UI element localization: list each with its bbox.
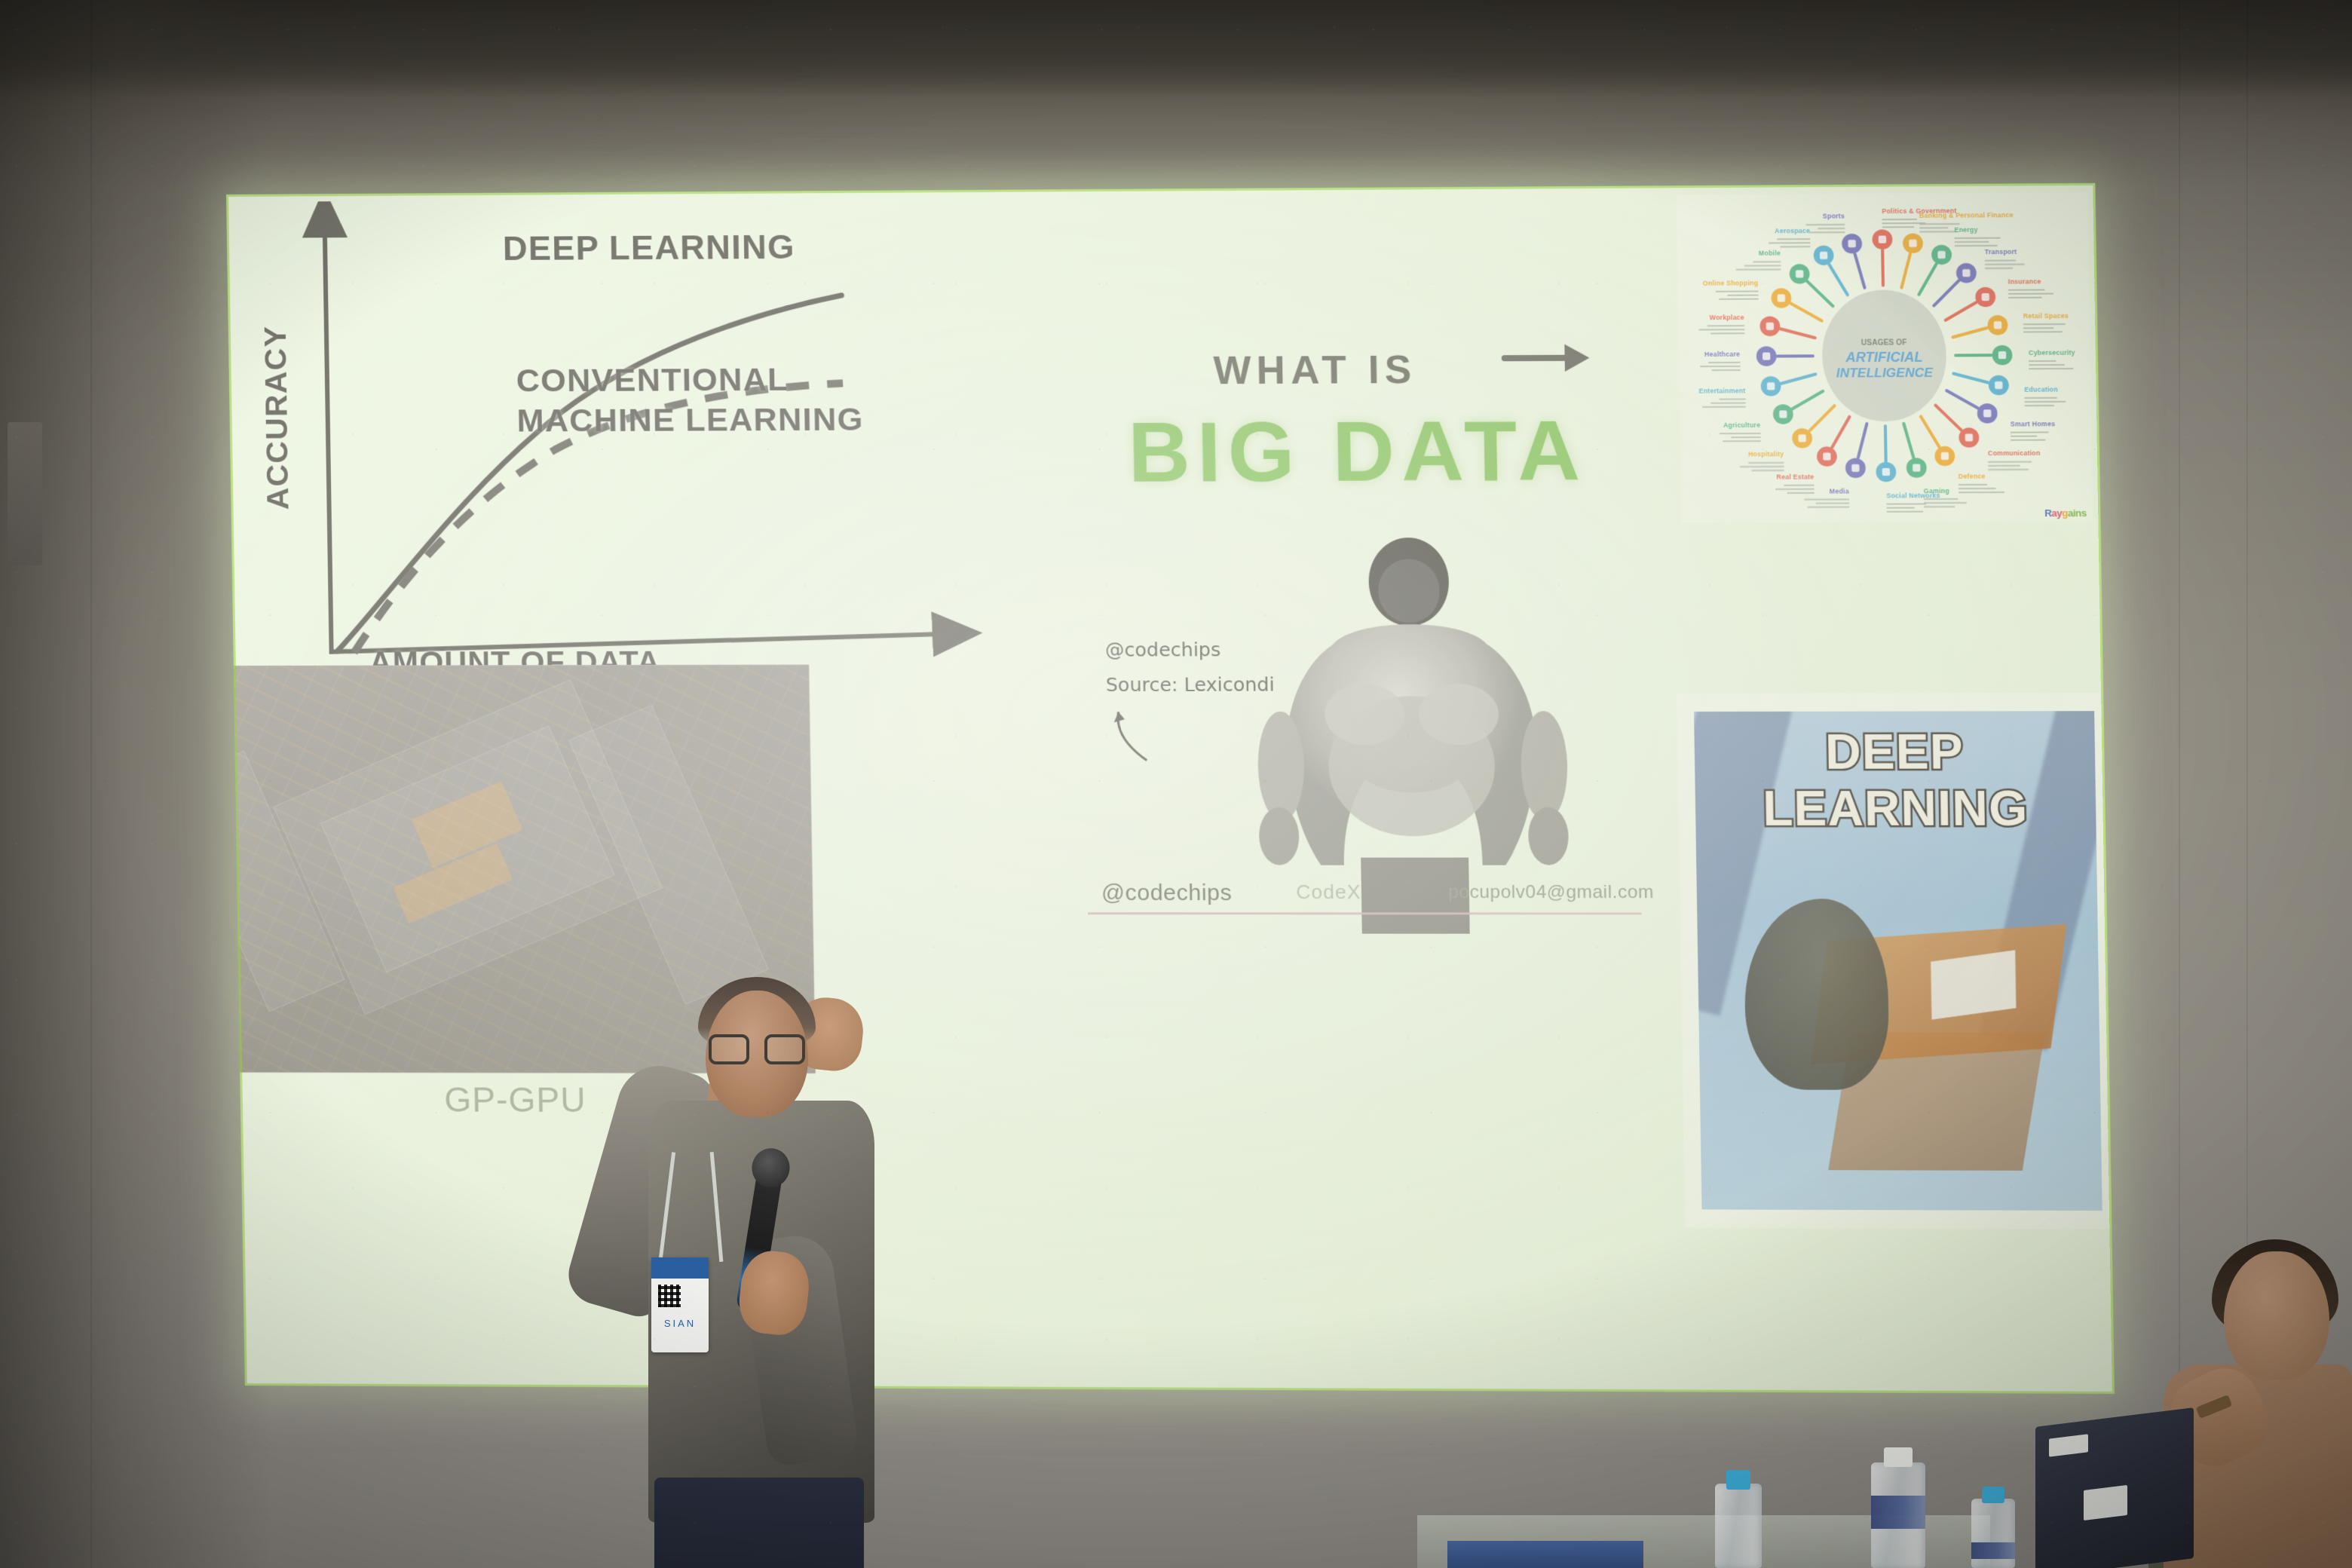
infographic-category-label: Workplace (1710, 314, 1744, 321)
infographic-spoke (1919, 264, 1937, 295)
meme-paper (1931, 950, 2016, 1019)
infographic-category-label: Retail Spaces (2023, 312, 2069, 320)
infographic-detail-line (1924, 506, 1955, 507)
presenter-trousers (654, 1478, 864, 1568)
big-data-section: WHAT IS BIG DATA @codechips Source: Lexi… (1079, 346, 1644, 1079)
infographic-detail-line (2029, 368, 2073, 369)
presenter: SIAN (528, 950, 950, 1568)
infographic-detail-line (1958, 492, 2004, 493)
water-bottle (1971, 1487, 2015, 1568)
infographic-detail-line (1958, 484, 1987, 485)
infographic-detail-line (1808, 507, 1850, 508)
muscular-figure-photo (1247, 537, 1576, 934)
infographic-detail-line (1707, 325, 1744, 326)
logo-part: R (2044, 507, 2051, 519)
ai-usages-infographic: USAGES OF ARTIFICIAL INTELLIGENCE Politi… (1677, 192, 2093, 523)
infographic-category-label: Defence (1958, 473, 1986, 480)
infographic-detail-line (1988, 461, 2032, 463)
infographic-category-label: Transport (1985, 248, 2017, 256)
conventional-ml-label-line1: CONVENTIONAL (516, 362, 789, 400)
infographic-icon-glyph (1994, 321, 2001, 329)
infographic-category-label: Mobile (1759, 250, 1781, 257)
infographic-spoke (1832, 417, 1850, 447)
infographic-category-label: Smart Homes (2011, 420, 2056, 427)
infographic-detail-line (1924, 502, 1967, 504)
water-bottle (1715, 1470, 1762, 1568)
infographic-detail-line (1804, 498, 1849, 500)
infographic-spoke (1809, 406, 1835, 430)
infographic-detail-line (1806, 224, 1845, 225)
infographic-category-label: Online Shopping (1703, 279, 1759, 287)
infographic-spoke (1901, 253, 1911, 287)
infographic-icon-glyph (1913, 464, 1920, 472)
infographic-icon-glyph (1983, 409, 1991, 417)
infographic-detail-line (2024, 397, 2056, 399)
curved-arrow-icon (1107, 706, 1178, 774)
infographic-category-label: Education (2024, 386, 2058, 394)
handwritten-handle-annotation: @codechips (1105, 639, 1221, 661)
infographic-category-label: Sports (1823, 213, 1845, 220)
infographic-detail-line (2023, 323, 2066, 325)
glasses-icon (709, 1034, 805, 1064)
infographic-detail-line (1710, 332, 1744, 334)
infographic-detail-line (1744, 265, 1781, 266)
infographic-detail-line (1882, 222, 1926, 224)
infographic-category-label: Entertainment (1699, 387, 1746, 394)
big-data-kicker: WHAT IS (1213, 348, 1417, 394)
infographic-detail-line (1887, 511, 1923, 513)
infographic-detail-line (1732, 436, 1761, 438)
infographic-detail-line (1988, 469, 2029, 470)
infographic-detail-line (1809, 231, 1845, 233)
badge-logo-text: SIAN (651, 1318, 709, 1329)
infographic-spoke (1792, 391, 1823, 409)
infographic-icon-glyph (1982, 293, 1989, 301)
infographic-category-label: Healthcare (1704, 351, 1740, 358)
infographic-icon-glyph (1937, 251, 1945, 259)
infographic-detail-line (1751, 470, 1784, 471)
infographic-detail-line (1727, 295, 1758, 296)
infographic-detail-line (1700, 366, 1740, 367)
infographic-detail-line (1919, 231, 1956, 232)
laptop[interactable] (2035, 1407, 2194, 1568)
infographic-detail-line (2011, 431, 2049, 433)
infographic-detail-line (1748, 462, 1784, 464)
meme-title: DEEP LEARNING (1694, 723, 2096, 837)
infographic-detail-line (2008, 297, 2041, 299)
infographic-icon-glyph (1851, 464, 1859, 472)
infographic-spoke (1921, 416, 1939, 446)
audience-member (2035, 1244, 2352, 1568)
infographic-detail-line (1882, 219, 1917, 220)
infographic-spoke (1882, 250, 1883, 286)
infographic-icon-glyph (1965, 433, 1973, 441)
y-axis (325, 224, 332, 654)
infographic-icon-glyph (1762, 352, 1770, 360)
audience-head (2224, 1251, 2329, 1380)
meme-person (1744, 899, 1890, 1090)
infographic-detail-line (2008, 289, 2045, 290)
blue-cloth (1447, 1541, 1643, 1568)
infographic-center-title-1: ARTIFICIAL (1845, 349, 1923, 365)
accuracy-vs-data-chart: ACCURACY AMOUNT OF DATA DEEP LEARNING CO… (234, 198, 1009, 722)
wall-fixture (8, 422, 42, 565)
infographic-icon-glyph (1962, 269, 1970, 277)
infographic-spoke (1857, 424, 1867, 458)
infographic-icon-glyph (1879, 236, 1886, 243)
logo-part: ay (2051, 507, 2062, 519)
infographic-spoke (1781, 329, 1815, 338)
right-arrow-icon (1499, 335, 1593, 381)
conference-badge: SIAN (651, 1257, 709, 1352)
infographic-icon-glyph (1882, 468, 1890, 476)
infographic-icon-glyph (1941, 452, 1949, 460)
deep-learning-label: DEEP LEARNING (503, 228, 795, 268)
infographic-spoke (1790, 303, 1821, 321)
badge-header (651, 1257, 709, 1279)
infographic-spoke (1855, 254, 1865, 288)
laptop-sticker (2049, 1434, 2088, 1456)
infographic-detail-line (1985, 268, 2013, 269)
infographic-detail-line (1736, 268, 1781, 270)
infographic-detail-line (1985, 264, 2025, 265)
infographic-icon-glyph (1796, 270, 1803, 277)
infographic-category-label: Hospitality (1748, 451, 1784, 458)
water-bottle (1871, 1447, 1925, 1568)
infographic-detail-line (2008, 292, 2053, 294)
infographic-category-label: Social Networks (1886, 492, 1940, 499)
infographic-spoke (1934, 280, 1959, 305)
infographic-spoke (1953, 373, 1988, 382)
infographic-detail-line (2011, 436, 2037, 437)
infographic-spoke (1885, 426, 1886, 461)
chart-y-axis-label: ACCURACY (257, 329, 296, 510)
infographic-detail-line (1955, 241, 1989, 243)
infographic-detail-line (1702, 406, 1746, 408)
infographic-detail-line (1955, 245, 1998, 247)
infographic-detail-line (1988, 465, 2020, 467)
infographic-icon-glyph (1820, 252, 1827, 259)
infographic-detail-line (1712, 369, 1741, 371)
infographic-icon-glyph (1778, 294, 1785, 302)
infographic-detail-line (1887, 503, 1927, 504)
infographic-detail-line (2029, 364, 2065, 366)
infographic-detail-line (1720, 399, 1746, 400)
infographic-detail-line (1955, 237, 2001, 239)
infographic-category-label: Banking & Personal Finance (1919, 211, 2014, 219)
infographic-icon-glyph (1779, 410, 1787, 418)
infographic-detail-line (1769, 242, 1811, 243)
infographic-spoke (1781, 374, 1816, 383)
infographic-category-label: Communication (1988, 449, 2041, 457)
infographic-detail-line (2025, 405, 2054, 406)
infographic-detail-line (1919, 227, 1948, 228)
infographic-category-label: Energy (1954, 226, 1977, 234)
infographic-spoke (1946, 390, 1977, 409)
infographic-detail-line (2025, 401, 2066, 403)
infographic-detail-line (1919, 223, 1960, 225)
infographic-detail-line (1716, 290, 1758, 292)
infographic-category-label: Aerospace (1775, 227, 1810, 234)
infographic-icon-glyph (1995, 381, 2002, 389)
watermark-brand: CodeX (1296, 880, 1361, 904)
infographic-detail-line (1780, 246, 1810, 247)
conventional-ml-label-line2: MACHINE LEARNING (516, 401, 864, 439)
chart-svg (234, 198, 1009, 722)
infographic-icon-glyph (1766, 323, 1774, 330)
infographic-detail-line (2011, 439, 2045, 441)
infographic-detail-line (1699, 329, 1745, 330)
infographic-spoke (1830, 265, 1848, 295)
infographic-center-kicker: USAGES OF (1861, 338, 1907, 347)
infographic-icon-glyph (1798, 434, 1805, 442)
infographic-detail-line (1777, 238, 1810, 240)
infographic-spoke (1945, 302, 1976, 320)
infographic-detail-line (1958, 488, 1996, 489)
infographic-detail-line (1753, 261, 1781, 262)
laptop-sticker (2084, 1485, 2127, 1521)
projected-slide: ACCURACY AMOUNT OF DATA DEEP LEARNING CO… (226, 183, 2115, 1394)
infographic-logo: Raygains (2044, 507, 2087, 519)
infographic-detail-line (1887, 507, 1915, 509)
deep-learning-meme: DEEP LEARNING (1677, 693, 2115, 1230)
infographic-detail-line (1818, 228, 1845, 229)
watermark-email: pocupolv04@gmail.com (1448, 882, 1654, 903)
infographic-detail-line (1723, 440, 1760, 442)
infographic-detail-line (1775, 488, 1814, 490)
qr-code-icon (658, 1285, 681, 1307)
meme-image: DEEP LEARNING (1694, 711, 2102, 1211)
infographic-detail-line (2029, 360, 2056, 362)
infographic-spoke (1903, 424, 1913, 458)
infographic-category-label: Agriculture (1723, 421, 1760, 429)
watermark-handle: @codechips (1101, 880, 1233, 906)
infographic-category-label: Media (1830, 487, 1849, 495)
infographic-center-title-2: INTELLIGENCE (1836, 366, 1934, 381)
infographic-category-label: Cybersecurity (2029, 349, 2075, 357)
infographic-detail-line (1985, 260, 2016, 262)
infographic-detail-line (1787, 492, 1815, 494)
infographic-icon-glyph (1909, 240, 1916, 247)
infographic-category-label: Real Estate (1776, 473, 1814, 480)
infographic-svg: USAGES OF ARTIFICIAL INTELLIGENCE Politi… (1677, 192, 2093, 523)
infographic-detail-line (2023, 331, 2063, 332)
ceiling-shadow (0, 0, 2352, 98)
infographic-icon-glyph (1767, 382, 1775, 390)
infographic-detail-line (1816, 502, 1849, 504)
infographic-detail-line (1708, 362, 1740, 363)
infographic-icon-glyph (1823, 453, 1830, 461)
infographic-detail-line (2023, 327, 2053, 329)
infographic-icon-glyph (1998, 351, 2006, 359)
infographic-spoke (1807, 281, 1833, 306)
infographic-detail-line (1711, 403, 1746, 404)
wall-seam (90, 0, 92, 1568)
infographic-detail-line (1740, 466, 1784, 467)
infographic-category-label: Insurance (2008, 277, 2041, 285)
infographic-detail-line (1720, 433, 1760, 434)
big-data-headline: BIG DATA (1127, 401, 1587, 501)
infographic-spoke (1936, 405, 1962, 430)
infographic-detail-line (1719, 299, 1758, 300)
deep-learning-curve (332, 296, 847, 651)
infographic-spoke (1952, 328, 1987, 337)
infographic-detail-line (1882, 226, 1914, 228)
infographic-icon-glyph (1848, 240, 1855, 247)
logo-part: ains (2068, 507, 2087, 519)
big-data-underline (1088, 912, 1641, 914)
infographic-detail-line (1784, 485, 1814, 486)
